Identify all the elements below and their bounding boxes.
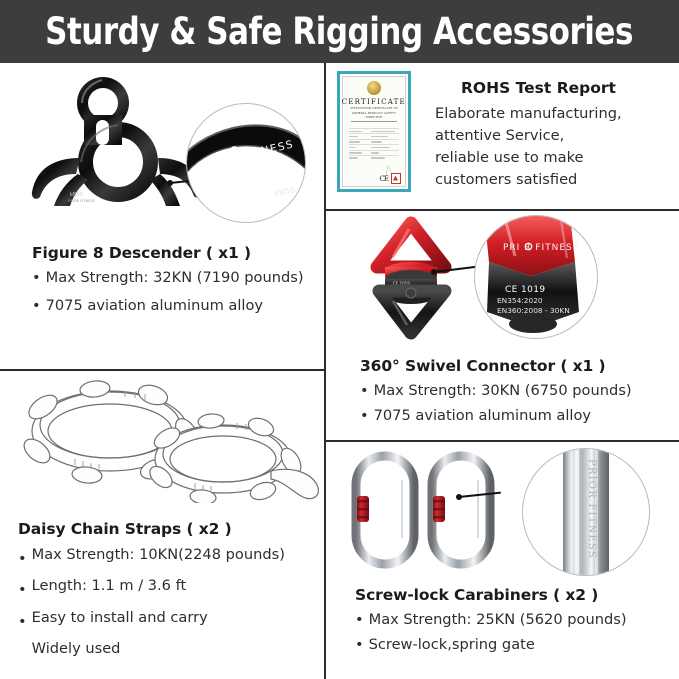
swivel-engraving-ce: CE 1019 [505, 285, 546, 295]
figure8-bullet-0: Max Strength: 32KN (7190 pounds) [46, 268, 317, 287]
daisy-bullet-3: Widely used [32, 639, 318, 658]
certificate-ce-block: CE [380, 173, 401, 184]
ce-logo-icon [391, 173, 401, 184]
daisy-bullet-0: Max Strength: 10KN(2248 pounds) [32, 545, 318, 564]
figure8-bullet-1: 7075 aviation aluminum alloy [46, 296, 317, 315]
panel-carabiner: PRIOR FITNESS Screw-lock Carabiners ( x2… [326, 442, 679, 679]
panel-figure8: kN50 PRIOR FITNESS PRI R FITNESS kN50 Fi… [0, 65, 324, 369]
carabiner-engraving-brand: PRIOR FITNESS [586, 459, 597, 559]
table-row [349, 155, 399, 160]
figure8-engraving-rating: kN50 [274, 185, 296, 197]
figure8-product-image: kN50 PRIOR FITNESS [18, 70, 218, 210]
panel-daisy: Daisy Chain Straps ( x2 ) • Max Strength… [0, 371, 324, 679]
daisy-feature-list: • Max Strength: 10KN(2248 pounds) • Leng… [18, 545, 318, 658]
list-item: • Length: 1.1 m / 3.6 ft [18, 576, 318, 595]
list-item: • Max Strength: 10KN(2248 pounds) [18, 545, 318, 564]
bullet-icon: • [18, 549, 27, 568]
rohs-line-1: Elaborate manufacturing, [435, 103, 622, 124]
certificate-subtitle-2: GENERAL PRODUCT SAFETY DIRECTIVE [348, 112, 399, 120]
swivel-svg: CE 1019 EN354:2020 [353, 215, 483, 340]
swivel-engraving-brand: PRI R FITNESS [503, 243, 579, 253]
figure8-magnifier-art: PRI R FITNESS kN50 [187, 104, 305, 222]
certificate-heading: CERTIFICATE [342, 97, 406, 106]
swivel-bullet-1: 7075 aviation aluminum alloy [374, 406, 670, 425]
ce-mark-label: CE [380, 175, 388, 183]
list-item: • Widely used [18, 639, 318, 658]
rohs-line-4: customers satisfied [435, 169, 577, 190]
swivel-magnifier: PRI R FITNESS CE 1019 EN354:2020 EN360:2… [474, 215, 598, 339]
swivel-feature-list: • Max Strength: 30KN (6750 pounds) • 707… [360, 381, 670, 426]
certificate-image: CERTIFICATE ATTESTATION CERTIFICATE OF G… [337, 71, 411, 192]
bullet-icon: • [18, 580, 27, 599]
figure8-magnifier: PRI R FITNESS kN50 [186, 103, 306, 223]
figure8-title: Figure 8 Descender ( x1 ) [32, 244, 251, 262]
carabiner-svg [348, 450, 528, 570]
swivel-engraving-en2: EN360:2008 - 30KN [497, 306, 570, 315]
list-item: • Max Strength: 30KN (6750 pounds) [360, 381, 670, 400]
certificate-blurb [350, 123, 399, 126]
carabiner-product-image [348, 450, 528, 570]
list-item: • 7075 aviation aluminum alloy [360, 406, 670, 425]
bullet-icon: • [32, 268, 41, 287]
swivel-engraving-en1: EN354:2020 [497, 296, 543, 305]
daisy-title: Daisy Chain Straps ( x2 ) [18, 520, 232, 538]
list-item: • Max Strength: 32KN (7190 pounds) [32, 268, 317, 287]
header-bar: Sturdy & Safe Rigging Accessories [0, 0, 679, 63]
certificate-body: CERTIFICATE ATTESTATION CERTIFICATE OF G… [342, 76, 406, 187]
daisy-bullet-1: Length: 1.1 m / 3.6 ft [32, 576, 318, 595]
bullet-icon: • [360, 406, 369, 425]
rohs-line-2: attentive Service, [435, 125, 564, 146]
svg-text:kN50: kN50 [70, 192, 83, 198]
swivel-product-image: CE 1019 EN354:2020 [353, 215, 483, 340]
daisy-svg [5, 377, 320, 503]
bullet-icon: • [18, 612, 27, 631]
bullet-icon: • [355, 610, 364, 629]
panel-rohs: CERTIFICATE ATTESTATION CERTIFICATE OF G… [326, 65, 679, 209]
carabiner-magnifier-art: PRIOR FITNESS [523, 449, 649, 575]
infographic-sheet: Sturdy & Safe Rigging Accessories [0, 0, 679, 679]
list-item: • Easy to install and carry [18, 608, 318, 627]
swivel-magnifier-art: PRI R FITNESS CE 1019 EN354:2020 EN360:2… [475, 216, 597, 338]
list-item: • Screw-lock,spring gate [355, 635, 670, 654]
certificate-seal-icon [367, 81, 381, 95]
swivel-title: 360° Swivel Connector ( x1 ) [360, 357, 605, 375]
list-item: • Max Strength: 25KN (5620 pounds) [355, 610, 670, 629]
daisy-product-image [5, 377, 320, 503]
figure8-svg: kN50 PRIOR FITNESS [18, 70, 218, 210]
carabiner-bullet-1: Screw-lock,spring gate [369, 635, 670, 654]
panel-swivel: CE 1019 EN354:2020 [326, 211, 679, 440]
carabiner-feature-list: • Max Strength: 25KN (5620 pounds) • Scr… [355, 610, 670, 655]
carabiner-magnifier: PRIOR FITNESS [522, 448, 650, 576]
carabiner-bullet-0: Max Strength: 25KN (5620 pounds) [369, 610, 670, 629]
daisy-bullet-2: Easy to install and carry [32, 608, 318, 627]
rohs-line-3: reliable use to make [435, 147, 583, 168]
figure8-feature-list: • Max Strength: 32KN (7190 pounds) • 707… [32, 268, 317, 316]
carabiner-title: Screw-lock Carabiners ( x2 ) [355, 586, 598, 604]
bullet-icon: • [32, 296, 41, 315]
swivel-bullet-0: Max Strength: 30KN (6750 pounds) [374, 381, 670, 400]
bullet-icon: • [360, 381, 369, 400]
list-item: • 7075 aviation aluminum alloy [32, 296, 317, 315]
certificate-table [349, 128, 399, 160]
rohs-title: ROHS Test Report [461, 79, 616, 97]
svg-text:PRIOR FITNESS: PRIOR FITNESS [68, 199, 96, 203]
bullet-icon: • [355, 635, 364, 654]
page-title: Sturdy & Safe Rigging Accessories [46, 13, 634, 50]
